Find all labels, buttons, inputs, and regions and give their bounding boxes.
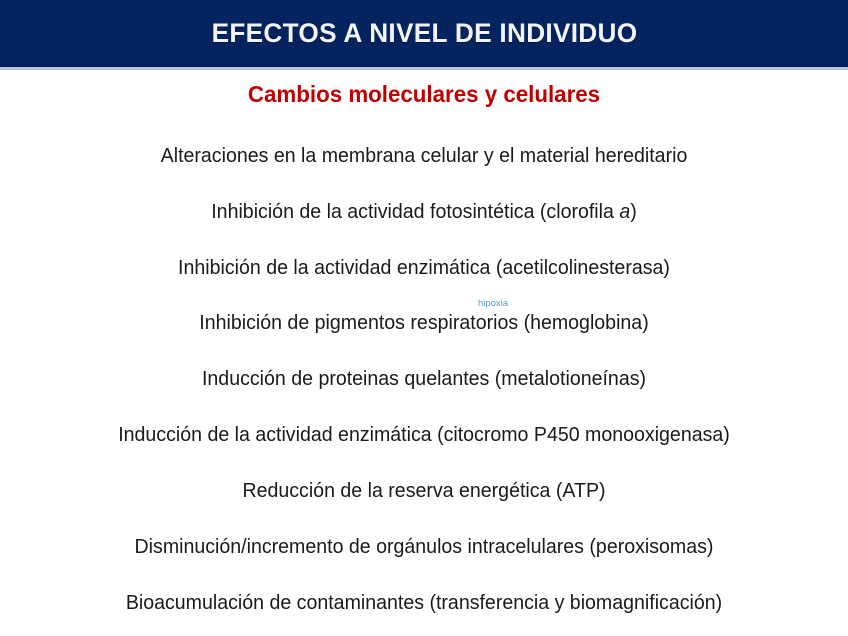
- section-subtitle: Cambios moleculares y celulares: [13, 82, 836, 107]
- content-line: Inhibición de la actividad enzimática (a…: [19, 256, 829, 280]
- content-line-text: Inhibición de la actividad fotosintética…: [211, 200, 619, 223]
- content-line: Disminución/incremento de orgánulos intr…: [19, 535, 829, 559]
- slide-header-banner: EFECTOS A NIVEL DE INDIVIDUO: [0, 0, 848, 67]
- content-line: Alteraciones en la membrana celular y el…: [19, 144, 829, 168]
- page-title: EFECTOS A NIVEL DE INDIVIDUO: [211, 20, 637, 47]
- content-line: Inducción de la actividad enzimática (ci…: [19, 423, 829, 447]
- content-line: Inhibición de la actividad fotosintética…: [19, 200, 829, 224]
- content-line-text-after: ): [630, 200, 637, 223]
- content-line: Inducción de proteinas quelantes (metalo…: [19, 367, 829, 391]
- slide-body: Cambios moleculares y celulares Alteraci…: [0, 70, 848, 636]
- content-line-italic: a: [619, 200, 630, 223]
- content-line: Reducción de la reserva energética (ATP): [19, 479, 829, 503]
- content-line: Inhibición de pigmentos respiratorios (h…: [19, 311, 829, 335]
- content-line: Bioacumulación de contaminantes (transfe…: [19, 591, 829, 615]
- hipoxia-annotation: hipoxia: [0, 299, 848, 309]
